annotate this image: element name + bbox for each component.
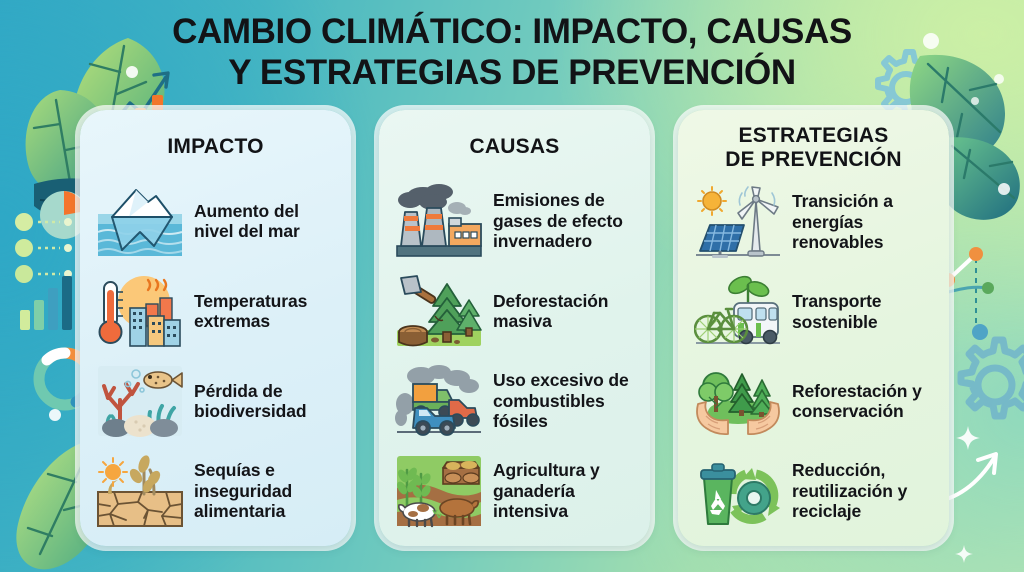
title-line-2: y Estrategias de Prevención [0,53,1024,94]
bubble-dots-icon [955,545,973,563]
list-item[interactable]: Pérdida de biodiversidad [96,364,335,438]
farm-cattle-crops-icon [395,454,483,528]
page-title: Cambio Climático: Impacto, Causas y Estr… [0,12,1024,94]
list-item[interactable]: Transporte sostenible [694,275,933,349]
solar-panel-wind-turbine-icon [694,185,782,259]
recycle-bin-arrows-icon [694,454,782,528]
cards-container: Impacto Aumento del nivel del [80,110,949,546]
card-title-impacto: Impacto [96,124,335,170]
gear-bottom-right-icon [940,330,1024,440]
card-title-line: Causas [395,135,634,159]
list-item[interactable]: Transición a energías renovables [694,185,933,259]
list-item-label: Uso excesivo de combustibles fósiles [493,370,634,431]
item-list-estrategias: Transición a energías renovables [694,177,933,536]
card-title-line: Estrategias [694,124,933,148]
card-title-estrategias: Estrategias de Prevención [694,124,933,171]
drought-cracked-soil-icon [96,454,184,528]
list-item-label: Deforestación masiva [493,291,634,332]
list-item-label: Sequías e inseguridad alimentaria [194,460,335,521]
list-item-label: Agricultura y ganadería intensiva [493,460,634,521]
list-item-label: Temperaturas extremas [194,291,335,332]
list-item[interactable]: Temperaturas extremas [96,274,335,348]
item-list-impacto: Aumento del nivel del mar [96,176,335,536]
bubble-dots-icon [995,180,1013,198]
bubble-dots-icon [968,94,982,108]
bubble-dots-left-icon [40,400,70,430]
list-item[interactable]: Deforestación masiva [395,274,634,348]
list-item-label: Transporte sostenible [792,291,933,332]
list-item[interactable]: Reducción, reutilización y reciclaje [694,454,933,528]
axe-tree-stump-icon [395,274,483,348]
bicycle-electric-bus-icon [694,275,782,349]
list-item-label: Pérdida de biodiversidad [194,381,335,422]
list-item[interactable]: Reforestación y conservación [694,364,933,438]
list-item[interactable]: Agricultura y ganadería intensiva [395,454,634,528]
title-line-1: Cambio Climático: Impacto, Causas [0,12,1024,53]
bar-chart-small-left-icon [18,270,74,332]
card-impacto: Impacto Aumento del nivel del [80,110,351,546]
list-item[interactable]: Uso excesivo de combustibles fósiles [395,364,634,438]
list-item-label: Emisiones de gases de efecto invernadero [493,190,634,251]
list-item-label: Transición a energías renovables [792,191,933,252]
sparkle-bottom-right-icon [955,425,981,451]
line-chart-right-icon [940,240,1024,350]
legend-dots-left-icon [12,212,78,290]
hands-holding-trees-icon [694,364,782,438]
thermometer-city-heat-icon [96,274,184,348]
factory-smokestack-icon [395,184,483,258]
card-title-line: Impacto [96,135,335,159]
card-estrategias: Estrategias de Prevención [678,110,949,546]
list-item-label: Reforestación y conservación [792,381,933,422]
item-list-causas: Emisiones de gases de efecto invernadero [395,176,634,536]
list-item[interactable]: Emisiones de gases de efecto invernadero [395,184,634,258]
iceberg-sea-level-icon [96,184,184,258]
card-causas: Causas [379,110,650,546]
list-item[interactable]: Aumento del nivel del mar [96,184,335,258]
list-item[interactable]: Sequías e inseguridad alimentaria [96,454,335,528]
list-item-label: Reducción, reutilización y reciclaje [792,460,933,521]
cars-truck-exhaust-icon [395,364,483,438]
card-title-causas: Causas [395,124,634,170]
list-item-label: Aumento del nivel del mar [194,201,335,242]
card-title-line: de Prevención [694,148,933,172]
coral-reef-fish-icon [96,364,184,438]
